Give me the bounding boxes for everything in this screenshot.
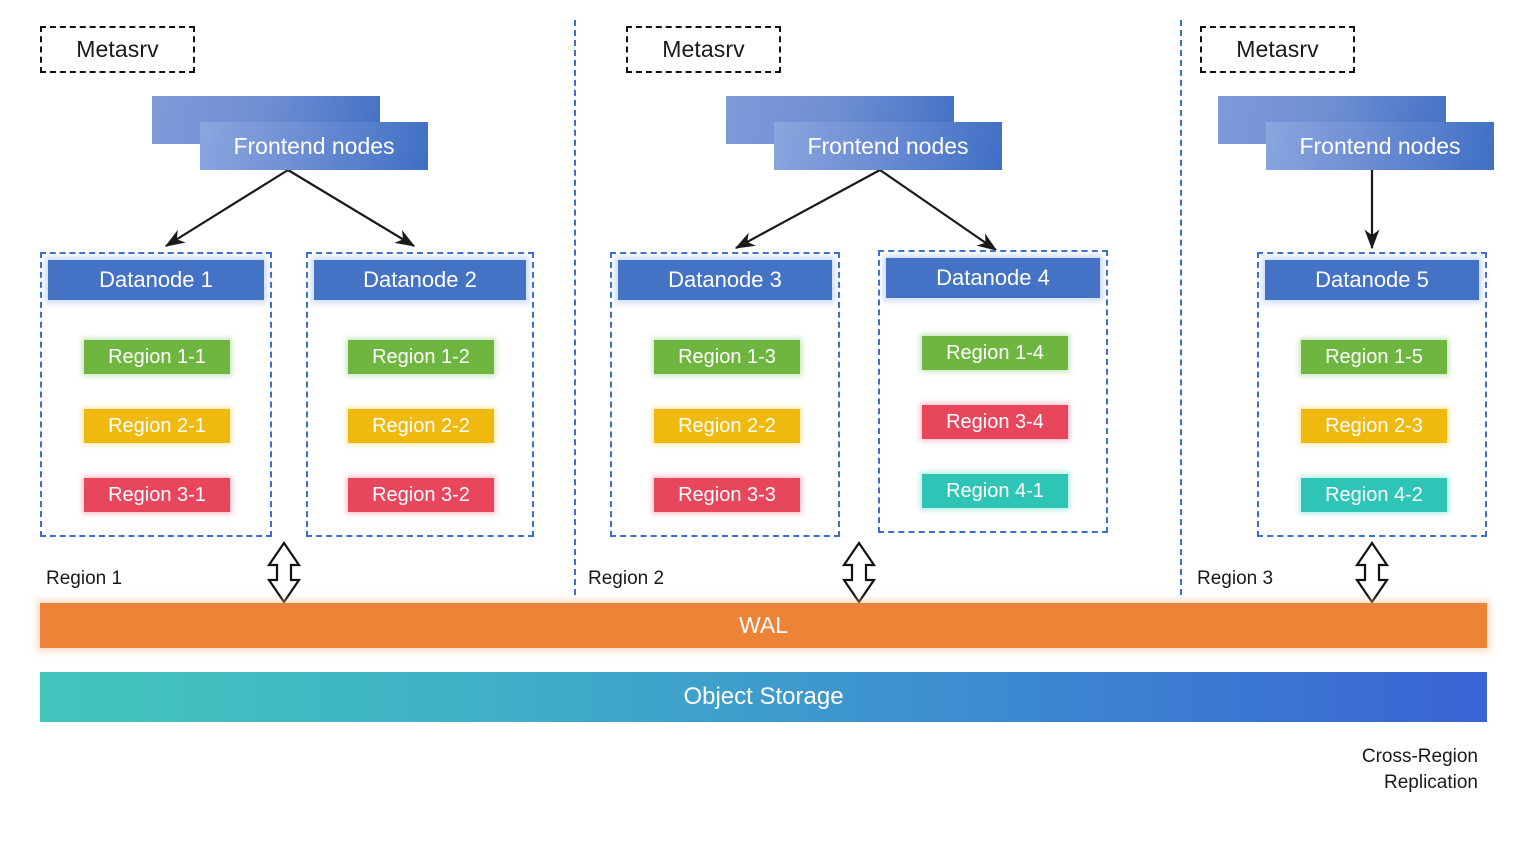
region-chip-4-2[interactable]: Region 4-2 bbox=[1301, 478, 1447, 512]
region-chip-label: Region 1-2 bbox=[372, 346, 470, 369]
wal-link-arrow-region-1 bbox=[269, 543, 299, 602]
datanode-title: Datanode 2 bbox=[363, 267, 477, 293]
region-chip-1-5[interactable]: Region 1-5 bbox=[1301, 340, 1447, 374]
region-chip-label: Region 1-5 bbox=[1325, 346, 1423, 369]
frontend-label: Frontend nodes bbox=[233, 133, 394, 160]
frontend-label: Frontend nodes bbox=[1299, 133, 1460, 160]
datanode-container-3[interactable]: Datanode 3 Region 1-3 Region 2-2 Region … bbox=[610, 252, 840, 537]
frontend-nodes-region-3[interactable]: Frontend nodes bbox=[1218, 96, 1494, 170]
architecture-diagram: Metasrv Frontend nodes Datanode 1 Region… bbox=[0, 0, 1514, 842]
region-separator-1 bbox=[574, 20, 576, 595]
region-chip-2-3[interactable]: Region 2-3 bbox=[1301, 409, 1447, 443]
region-chip-2-2[interactable]: Region 2-2 bbox=[348, 409, 494, 443]
region-chip-label: Region 3-1 bbox=[108, 484, 206, 507]
wal-label: WAL bbox=[739, 612, 788, 639]
region-chip-1-3[interactable]: Region 1-3 bbox=[654, 340, 800, 374]
datanode-title: Datanode 4 bbox=[936, 265, 1050, 291]
frontend-label: Frontend nodes bbox=[807, 133, 968, 160]
region-chip-label: Region 4-2 bbox=[1325, 484, 1423, 507]
metasrv-box-region-2[interactable]: Metasrv bbox=[626, 26, 781, 73]
object-storage-bar[interactable]: Object Storage bbox=[40, 672, 1487, 722]
cross-region-replication-caption: Cross-Region Replication bbox=[1362, 744, 1478, 796]
region-chip-label: Region 3-4 bbox=[946, 411, 1044, 434]
datanode-container-1[interactable]: Datanode 1 Region 1-1 Region 2-1 Region … bbox=[40, 252, 272, 537]
metasrv-box-region-3[interactable]: Metasrv bbox=[1200, 26, 1355, 73]
region-chip-label: Region 1-1 bbox=[108, 346, 206, 369]
region-chip-label: Region 2-3 bbox=[1325, 415, 1423, 438]
region-chip-label: Region 2-2 bbox=[372, 415, 470, 438]
metasrv-label: Metasrv bbox=[76, 36, 159, 63]
region-chip-4-1[interactable]: Region 4-1 bbox=[922, 474, 1068, 508]
region-chip-3-4[interactable]: Region 3-4 bbox=[922, 405, 1068, 439]
region-chip-1-2[interactable]: Region 1-2 bbox=[348, 340, 494, 374]
metasrv-label: Metasrv bbox=[1236, 36, 1319, 63]
region-group-label-1: Region 1 bbox=[46, 568, 122, 590]
region-chip-2-2-dn3[interactable]: Region 2-2 bbox=[654, 409, 800, 443]
datanode-header-2: Datanode 2 bbox=[314, 260, 526, 300]
frontend-card-front: Frontend nodes bbox=[774, 122, 1002, 170]
wal-bar[interactable]: WAL bbox=[40, 603, 1487, 648]
datanode-header-5: Datanode 5 bbox=[1265, 260, 1479, 300]
datanode-title: Datanode 1 bbox=[99, 267, 213, 293]
region-group-label-3: Region 3 bbox=[1197, 568, 1273, 590]
arrow-frontend-to-datanode-2 bbox=[288, 170, 414, 246]
region-chip-label: Region 1-4 bbox=[946, 342, 1044, 365]
caption-line-2: Replication bbox=[1362, 770, 1478, 796]
arrow-frontend-to-datanode-3 bbox=[736, 170, 880, 248]
frontend-card-front: Frontend nodes bbox=[1266, 122, 1494, 170]
arrow-frontend-to-datanode-1 bbox=[166, 170, 288, 246]
region-chip-label: Region 4-1 bbox=[946, 480, 1044, 503]
frontend-nodes-region-1[interactable]: Frontend nodes bbox=[152, 96, 428, 170]
datanode-container-5[interactable]: Datanode 5 Region 1-5 Region 2-3 Region … bbox=[1257, 252, 1487, 537]
region-chip-label: Region 2-1 bbox=[108, 415, 206, 438]
datanode-header-3: Datanode 3 bbox=[618, 260, 832, 300]
frontend-nodes-region-2[interactable]: Frontend nodes bbox=[726, 96, 1002, 170]
datanode-title: Datanode 3 bbox=[668, 267, 782, 293]
datanode-title: Datanode 5 bbox=[1315, 267, 1429, 293]
region-chip-label: Region 3-3 bbox=[678, 484, 776, 507]
region-chip-label: Region 3-2 bbox=[372, 484, 470, 507]
caption-line-1: Cross-Region bbox=[1362, 744, 1478, 770]
metasrv-box-region-1[interactable]: Metasrv bbox=[40, 26, 195, 73]
datanode-header-4: Datanode 4 bbox=[886, 258, 1100, 298]
region-chip-label: Region 1-3 bbox=[678, 346, 776, 369]
frontend-card-front: Frontend nodes bbox=[200, 122, 428, 170]
region-chip-label: Region 2-2 bbox=[678, 415, 776, 438]
object-storage-label: Object Storage bbox=[683, 683, 843, 711]
region-chip-3-3[interactable]: Region 3-3 bbox=[654, 478, 800, 512]
datanode-header-1: Datanode 1 bbox=[48, 260, 264, 300]
datanode-container-2[interactable]: Datanode 2 Region 1-2 Region 2-2 Region … bbox=[306, 252, 534, 537]
datanode-container-4[interactable]: Datanode 4 Region 1-4 Region 3-4 Region … bbox=[878, 250, 1108, 533]
region-separator-2 bbox=[1180, 20, 1182, 595]
region-chip-2-1[interactable]: Region 2-1 bbox=[84, 409, 230, 443]
region-chip-3-1[interactable]: Region 3-1 bbox=[84, 478, 230, 512]
wal-link-arrow-region-3 bbox=[1357, 543, 1387, 602]
arrow-frontend-to-datanode-4 bbox=[880, 170, 996, 250]
region-chip-3-2[interactable]: Region 3-2 bbox=[348, 478, 494, 512]
region-chip-1-4[interactable]: Region 1-4 bbox=[922, 336, 1068, 370]
region-chip-1-1[interactable]: Region 1-1 bbox=[84, 340, 230, 374]
wal-link-arrow-region-2 bbox=[844, 543, 874, 602]
region-group-label-2: Region 2 bbox=[588, 568, 664, 590]
metasrv-label: Metasrv bbox=[662, 36, 745, 63]
